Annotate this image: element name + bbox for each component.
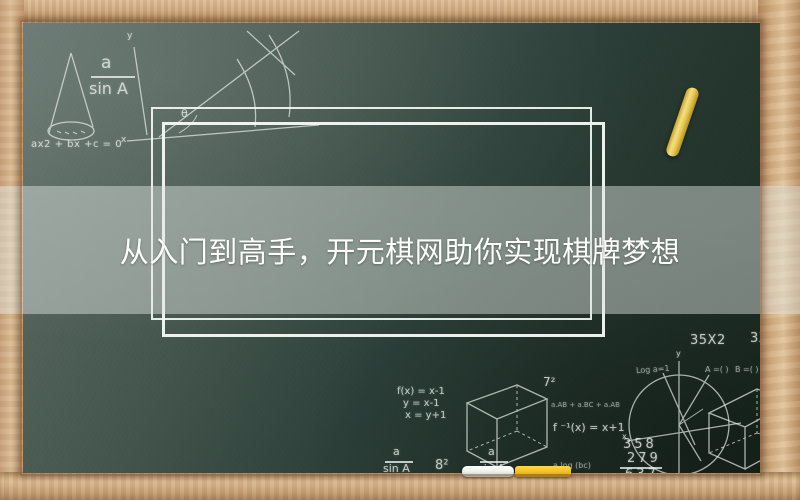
white-chalk-icon: [462, 466, 514, 477]
axis-x-label-topleft: x: [121, 135, 126, 145]
function-line-3: x = y+1: [405, 410, 446, 421]
power-eight: 8²: [435, 458, 448, 473]
axis-y-label-topleft: y: [127, 31, 132, 41]
series-expression: a.AB + a.BC + a.AB: [551, 401, 620, 409]
yellow-chalk-icon: [515, 466, 571, 477]
quadratic-equation: ax2 + bx +c = 0: [31, 139, 122, 150]
function-line-1: f(x) = x-1: [397, 386, 445, 397]
function-line-2: y = x-1: [403, 398, 440, 409]
inverse-function: f ⁻¹(x) = x+1: [553, 421, 625, 434]
matrix-dimension-35x2: 35X2: [690, 333, 726, 348]
frame-bottom-rail: [0, 472, 800, 500]
frame-top-rail: [0, 0, 800, 24]
addition-operand-top: 358: [623, 437, 657, 452]
axis-y-label-bottomright: y: [676, 349, 681, 358]
power-seven: 7²: [543, 375, 555, 389]
addition-result: 637: [625, 467, 659, 473]
addition-operand-bottom: 279: [627, 451, 661, 466]
sine-fraction-numerator-right: a: [488, 445, 495, 458]
matrix-dimension-3x2: 3X2: [750, 331, 760, 346]
sine-fraction-numerator-left: a: [393, 445, 400, 458]
cube-diagram-icon: [461, 381, 553, 473]
sine-fraction-denominator-left: sin A: [383, 462, 410, 473]
banner-image: a sin A ax2 + bx +c = 0 y x θ f(x) = x-1…: [0, 0, 800, 500]
cube-wireframe-icon: [701, 385, 760, 473]
law-of-sines-numerator: a: [101, 53, 111, 73]
banner-headline: 从入门到高手，开元棋网助你实现棋牌梦想: [0, 186, 800, 314]
